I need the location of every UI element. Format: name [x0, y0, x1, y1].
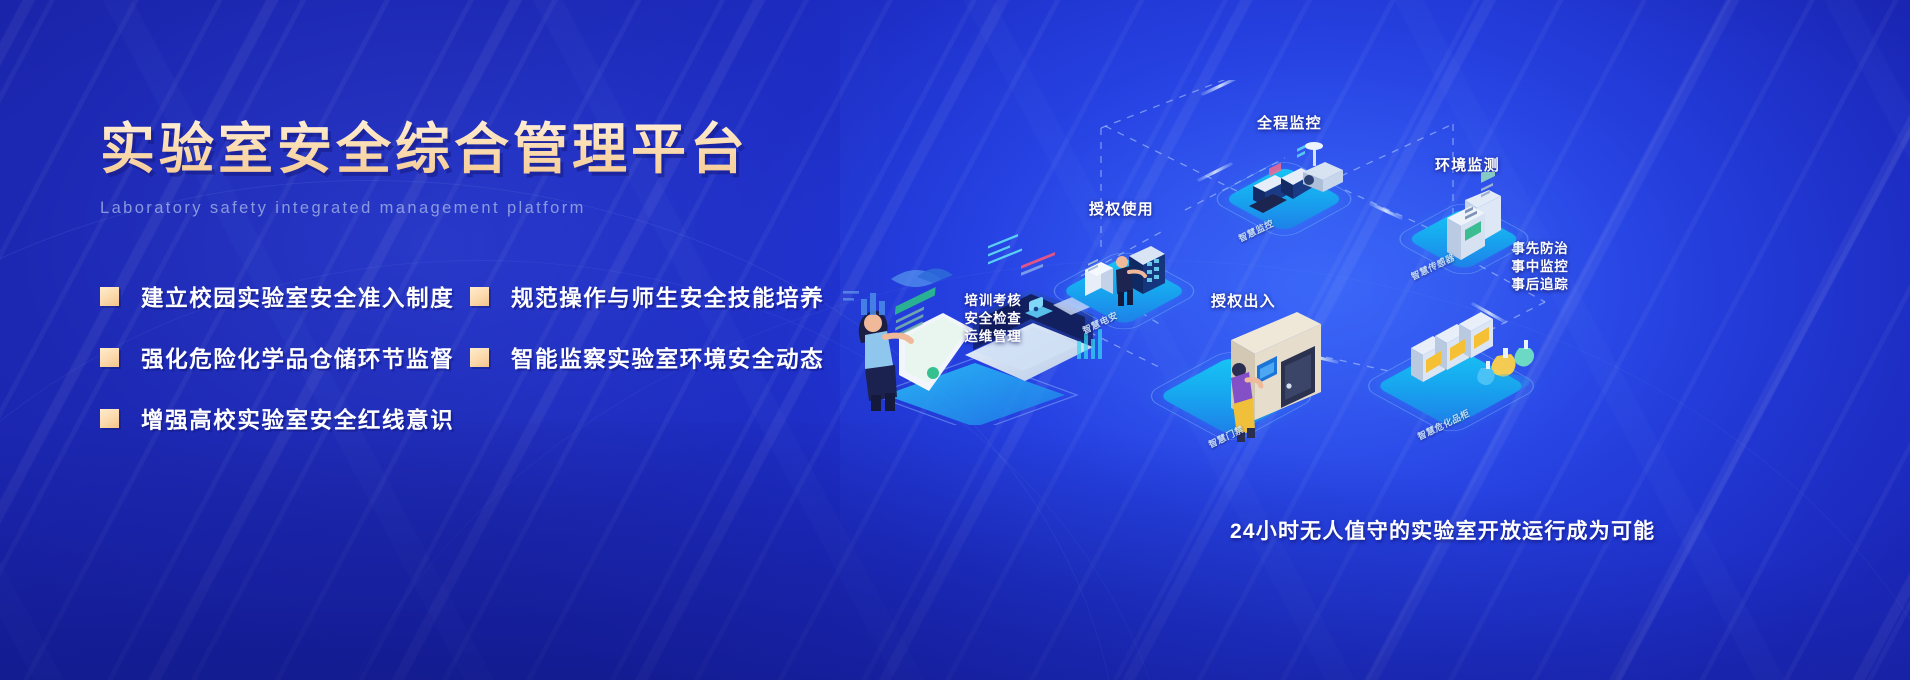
bullet-label: 强化危险化学品仓储环节监督: [141, 342, 454, 374]
bullet-item-5: 增强高校实验室安全红线意识: [100, 388, 470, 449]
bullet-square-icon: [470, 348, 489, 367]
hero-text-block: 实验室安全综合管理平台 Laboratory safety integrated…: [100, 118, 900, 449]
door-access-icon: [1169, 304, 1339, 454]
center-label-line-1: 培训考核: [923, 292, 1063, 310]
bullet-square-icon: [100, 409, 119, 428]
center-label-line-3: 运维管理: [923, 328, 1063, 346]
bullet-label: 智能监察实验室环境安全动态: [511, 342, 824, 374]
bullet-item-1: 建立校园实验室安全准入制度: [100, 266, 470, 327]
bullet-label: 规范操作与师生安全技能培养: [511, 281, 824, 313]
bullet-square-icon: [100, 287, 119, 306]
bullet-item-3: 强化危险化学品仓储环节监督: [100, 327, 470, 388]
center-capability-label: 培训考核 安全检查 运维管理: [923, 292, 1063, 346]
feature-bullet-list: 建立校园实验室安全准入制度 规范操作与师生安全技能培养 强化危险化学品仓储环节监…: [100, 266, 900, 449]
page-title: 实验室安全综合管理平台: [100, 118, 900, 181]
page-subtitle: Laboratory safety integrated management …: [100, 199, 900, 218]
bullet-label: 增强高校实验室安全红线意识: [141, 403, 454, 435]
bullet-square-icon: [470, 287, 489, 306]
center-label-line-2: 安全检查: [923, 310, 1063, 328]
chemical-cabinet-icon: [1377, 290, 1567, 440]
bullet-item-4: 智能监察实验室环境安全动态: [470, 327, 840, 388]
surveillance-icon: [1229, 130, 1369, 240]
bullet-item-2: 规范操作与师生安全技能培养: [470, 266, 840, 327]
bullet-label: 建立校园实验室安全准入制度: [141, 281, 454, 313]
bottom-caption: 24小时无人值守的实验室开放运行成为可能: [1230, 515, 1655, 545]
bullet-square-icon: [100, 348, 119, 367]
